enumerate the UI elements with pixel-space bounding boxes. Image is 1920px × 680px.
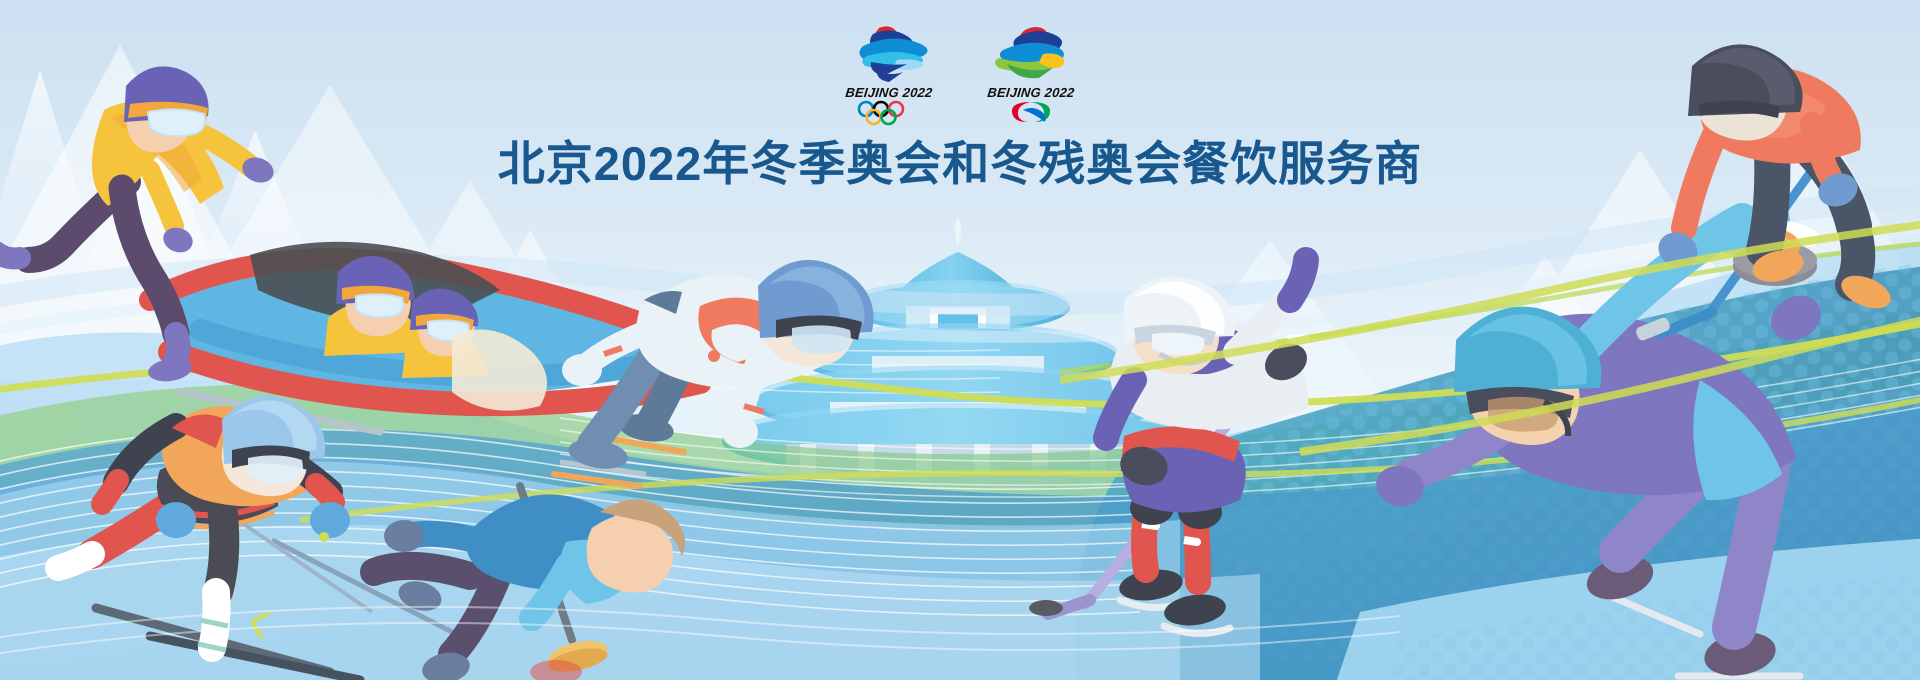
beijing-2022-paralympic-emblem: BEIJING 2022 [971,22,1091,126]
paralympic-agitos-icon [1001,100,1061,126]
olympic-rings-icon [853,100,925,126]
banner-header: BEIJING 2022 [0,0,1920,187]
olympic-wordmark: BEIJING 2022 [828,85,950,100]
paralympic-wordmark: BEIJING 2022 [970,85,1092,100]
emblem-row: BEIJING 2022 [0,0,1920,126]
page-title: 北京2022年冬季奥会和冬残奥会餐饮服务商 [0,140,1920,187]
olympic-banner: BEIJING 2022 [0,0,1920,680]
winter-dream-ribbon-icon [843,22,935,84]
beijing-2022-olympic-emblem: BEIJING 2022 [829,22,949,126]
flying-ribbon-icon [985,22,1077,84]
